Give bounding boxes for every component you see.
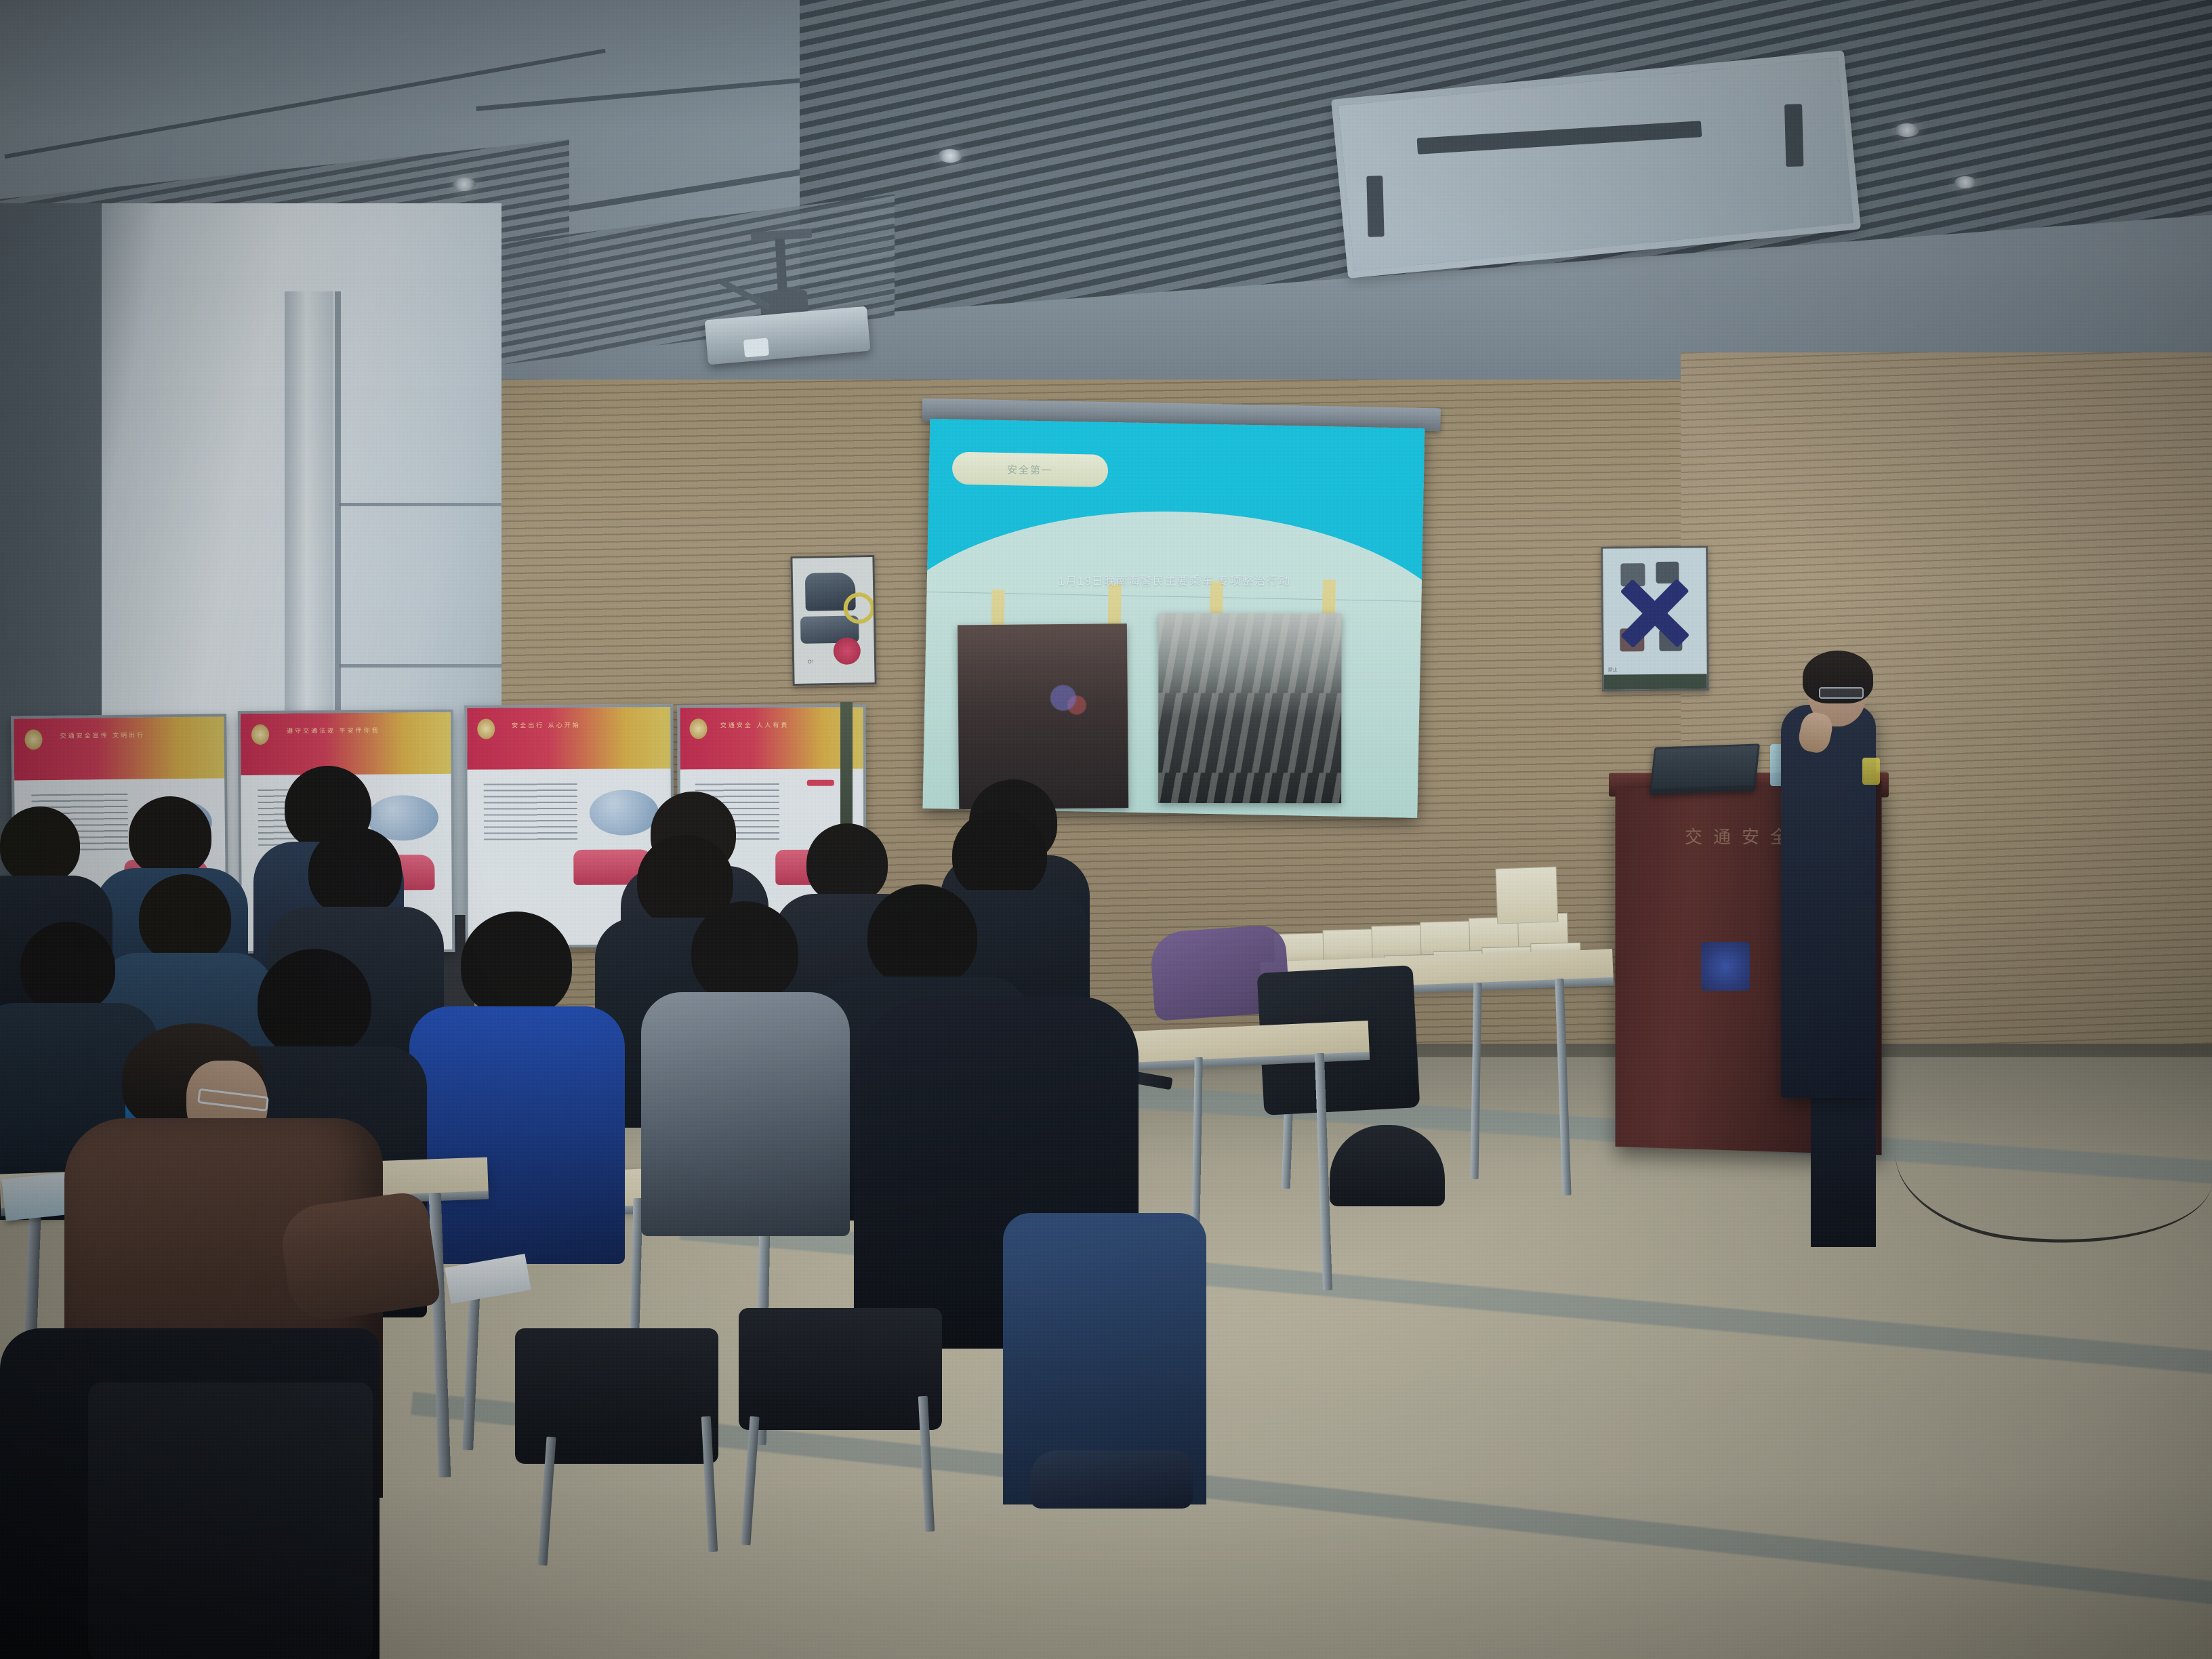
board-header: 遵守交通法规 平安伴你我	[241, 712, 451, 775]
projection-screen[interactable]: 安全第一 1月19日晚南海警民主要乘车 专项整治行动	[914, 398, 1441, 829]
globe-icon	[590, 790, 659, 836]
board-header-text: 遵守交通法规 平安伴你我	[287, 726, 443, 736]
board-header-text: 交通安全宣传 文明出行	[60, 731, 216, 741]
downlight	[1895, 123, 1919, 137]
board-header-text: 交通安全 人人有责	[720, 721, 856, 731]
foam-block	[1496, 866, 1559, 924]
slide-headline: 1月19日晚南海警民主要乘车 专项整治行动	[927, 571, 1422, 588]
torso-hoodie	[641, 992, 850, 1236]
emblem-icon	[477, 719, 495, 739]
emblem-icon	[24, 730, 42, 750]
shoe	[1030, 1450, 1193, 1509]
poster-label: O!	[808, 659, 870, 665]
glasses-icon	[1819, 687, 1864, 699]
slide-pill-label: 安全第一	[1007, 462, 1053, 477]
head	[139, 874, 231, 962]
uniform-shoulder-patch	[1862, 758, 1880, 785]
arm	[277, 1190, 441, 1325]
head	[308, 827, 402, 916]
x-mark-icon	[807, 779, 834, 785]
board-header: 交通安全宣传 文明出行	[14, 716, 224, 780]
head	[20, 922, 115, 1012]
chair[interactable]	[88, 1382, 373, 1659]
poster-blue-x: 禁止	[1601, 546, 1709, 691]
head	[691, 901, 798, 1003]
projector-lens-icon	[743, 337, 769, 357]
slide-photo-left	[958, 623, 1128, 809]
head	[867, 884, 977, 987]
poster-footer-band	[1604, 674, 1707, 689]
podium-emblem-icon	[1701, 942, 1750, 991]
slide-photo-right	[1158, 613, 1341, 803]
presenter-legs	[1811, 1078, 1876, 1247]
head	[952, 810, 1047, 899]
poster-car-warning: O!	[790, 555, 876, 686]
emblem-icon	[251, 724, 268, 745]
screen-surface: 安全第一 1月19日晚南海警民主要乘车 专项整治行动	[922, 419, 1425, 818]
classroom-photo-scene: 安全第一 1月19日晚南海警民主要乘车 专项整治行动 O! 禁止 交通安全宣传 …	[0, 0, 2212, 1659]
head	[0, 806, 80, 884]
window-mullion	[339, 664, 501, 668]
poster-label: 禁止	[1608, 666, 1618, 673]
downlight	[1954, 176, 1976, 188]
board-header: 安全出行 从心开始	[467, 707, 670, 770]
head	[461, 912, 572, 1017]
board-header: 交通安全 人人有责	[680, 708, 863, 770]
downlight	[453, 178, 476, 191]
alert-circle-icon	[843, 592, 875, 624]
board-text-block	[484, 783, 577, 840]
window-mullion	[339, 503, 501, 506]
board-header-text: 安全出行 从心开始	[512, 720, 662, 731]
head	[806, 823, 888, 903]
downlight	[938, 149, 962, 163]
slide-title-pill: 安全第一	[952, 452, 1109, 487]
emblem-icon	[689, 719, 707, 739]
laptop-screen	[1652, 745, 1758, 788]
presenter-body	[1781, 705, 1876, 1098]
head	[129, 796, 211, 876]
chair[interactable]	[739, 1308, 942, 1430]
